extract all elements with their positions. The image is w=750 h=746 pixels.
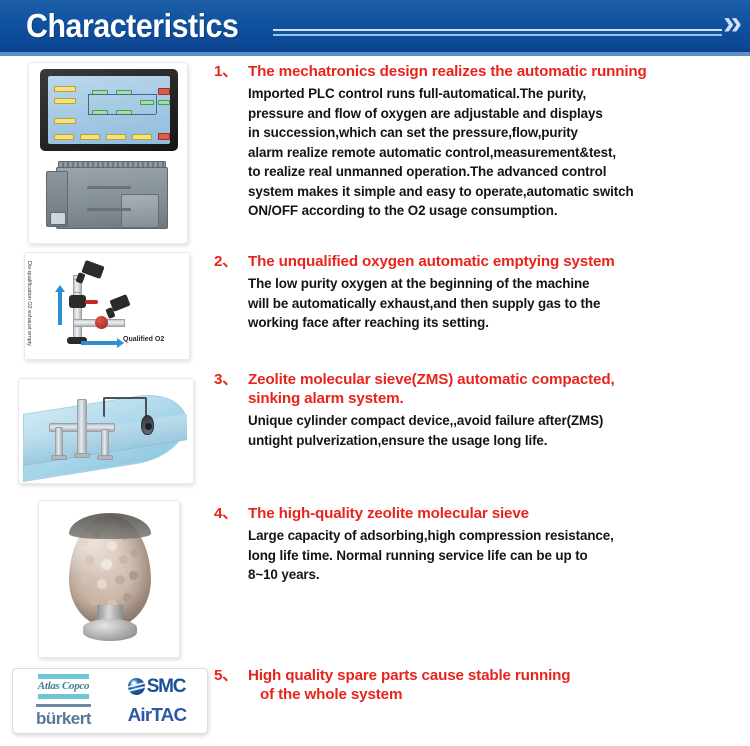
page-header-banner: Characteristics » bbox=[0, 0, 750, 52]
exhaust-arrow-up bbox=[58, 291, 62, 325]
smc-logo: SMC bbox=[128, 677, 186, 696]
airtac-logo: AirTAC bbox=[129, 705, 185, 726]
zms-compact-device-render bbox=[18, 378, 194, 484]
airtac-wordmark: AirTAC bbox=[127, 705, 186, 726]
feature-5-heading: 5、 High quality spare parts cause stable… bbox=[214, 666, 744, 704]
feature-3-body: Unique cylinder compact device,,avoid fa… bbox=[248, 411, 744, 450]
feature-4-heading-line-1: The high-quality zeolite molecular sieve bbox=[248, 504, 744, 523]
atlas-copco-wordmark: Atlas Copco bbox=[38, 680, 89, 693]
feature-1-number: 1、 bbox=[214, 62, 248, 81]
image-column: Dis-qualification O2 exhaust empty Quali… bbox=[0, 56, 214, 746]
characteristics-page: Characteristics » bbox=[0, 0, 750, 746]
atlas-copco-bar-bottom bbox=[38, 694, 89, 699]
feature-4-heading-text: The high-quality zeolite molecular sieve bbox=[248, 504, 744, 523]
feature-item-1: 1、 The mechatronics design realizes the … bbox=[214, 62, 744, 221]
content-area: Dis-qualification O2 exhaust empty Quali… bbox=[0, 56, 750, 746]
feature-3-heading-text: Zeolite molecular sieve(ZMS) automatic c… bbox=[248, 370, 744, 408]
feature-4-heading: 4、 The high-quality zeolite molecular si… bbox=[214, 504, 744, 523]
feature-3-heading: 3、 Zeolite molecular sieve(ZMS) automati… bbox=[214, 370, 744, 408]
hmi-screen bbox=[48, 76, 170, 144]
smc-wordmark: SMC bbox=[147, 677, 186, 696]
burkert-wordmark: bürkert bbox=[36, 710, 91, 727]
plc-side-module bbox=[46, 171, 68, 227]
feature-1-body: Imported PLC control runs full-automatic… bbox=[248, 84, 744, 221]
feature-item-3: 3、 Zeolite molecular sieve(ZMS) automati… bbox=[214, 370, 744, 450]
hmi-touch-panel bbox=[40, 69, 178, 151]
feature-5-heading-line-2: of the whole system bbox=[260, 685, 744, 704]
feature-3-heading-line-2: sinking alarm system. bbox=[248, 389, 744, 408]
valve-handwheel bbox=[85, 300, 98, 304]
plc-body bbox=[56, 167, 168, 229]
feature-1-heading-text: The mechatronics design realizes the aut… bbox=[248, 62, 744, 81]
feature-3-heading-line-1: Zeolite molecular sieve(ZMS) automatic c… bbox=[248, 370, 744, 389]
double-chevron-right-icon: » bbox=[723, 6, 738, 40]
brand-logos-box: Atlas Copco SMC bürkert AirTAC bbox=[12, 668, 208, 734]
zms-sensor-cable bbox=[103, 397, 147, 417]
zeolite-beads-photo bbox=[38, 500, 180, 658]
feature-1-heading-line-1: The mechatronics design realizes the aut… bbox=[248, 62, 744, 81]
feature-list: 1、 The mechatronics design realizes the … bbox=[214, 56, 750, 746]
feature-5-heading-text: High quality spare parts cause stable ru… bbox=[248, 666, 744, 704]
zeolite-container-rim bbox=[69, 513, 151, 539]
plc-front-panel bbox=[121, 194, 159, 228]
valve-body-mid bbox=[69, 295, 86, 308]
atlas-copco-logo: Atlas Copco bbox=[38, 673, 89, 700]
zeolite-container-base bbox=[83, 619, 137, 641]
feature-item-4: 4、 The high-quality zeolite molecular si… bbox=[214, 504, 744, 585]
valve-red-knob bbox=[95, 316, 108, 329]
qualified-arrow-right bbox=[81, 341, 117, 345]
feature-3-number: 3、 bbox=[214, 370, 248, 408]
feature-item-5: 5、 High quality spare parts cause stable… bbox=[214, 666, 744, 704]
feature-2-body: The low purity oxygen at the beginning o… bbox=[248, 274, 744, 333]
feature-5-heading-line-1: High quality spare parts cause stable ru… bbox=[248, 666, 744, 685]
plc-module bbox=[46, 159, 172, 235]
qualified-o2-label: Qualified O2 bbox=[123, 336, 164, 343]
hmi-plc-photo bbox=[28, 62, 188, 244]
feature-2-heading: 2、 The unqualified oxygen automatic empt… bbox=[214, 252, 744, 271]
feature-1-heading: 1、 The mechatronics design realizes the … bbox=[214, 62, 744, 81]
feature-4-body: Large capacity of adsorbing,high compres… bbox=[248, 526, 744, 585]
feature-4-number: 4、 bbox=[214, 504, 248, 523]
plc-connector-port bbox=[50, 212, 66, 225]
burkert-logo: bürkert bbox=[36, 704, 91, 727]
feature-2-heading-line-1: The unqualified oxygen automatic emptyin… bbox=[248, 252, 744, 271]
smc-swirl-icon bbox=[128, 678, 145, 695]
valve-exhaust-diagram: Dis-qualification O2 exhaust empty Quali… bbox=[24, 252, 190, 360]
feature-5-number: 5、 bbox=[214, 666, 248, 704]
page-title: Characteristics bbox=[26, 7, 238, 45]
atlas-copco-bar-top bbox=[38, 674, 89, 679]
feature-2-heading-text: The unqualified oxygen automatic emptyin… bbox=[248, 252, 744, 271]
feature-item-2: 2、 The unqualified oxygen automatic empt… bbox=[214, 252, 744, 333]
burkert-rule bbox=[36, 704, 91, 707]
zms-sinking-alarm-sensor bbox=[141, 415, 154, 435]
exhaust-label-vertical: Dis-qualification O2 exhaust empty bbox=[26, 261, 32, 346]
header-rule bbox=[273, 29, 722, 36]
feature-2-number: 2、 bbox=[214, 252, 248, 271]
